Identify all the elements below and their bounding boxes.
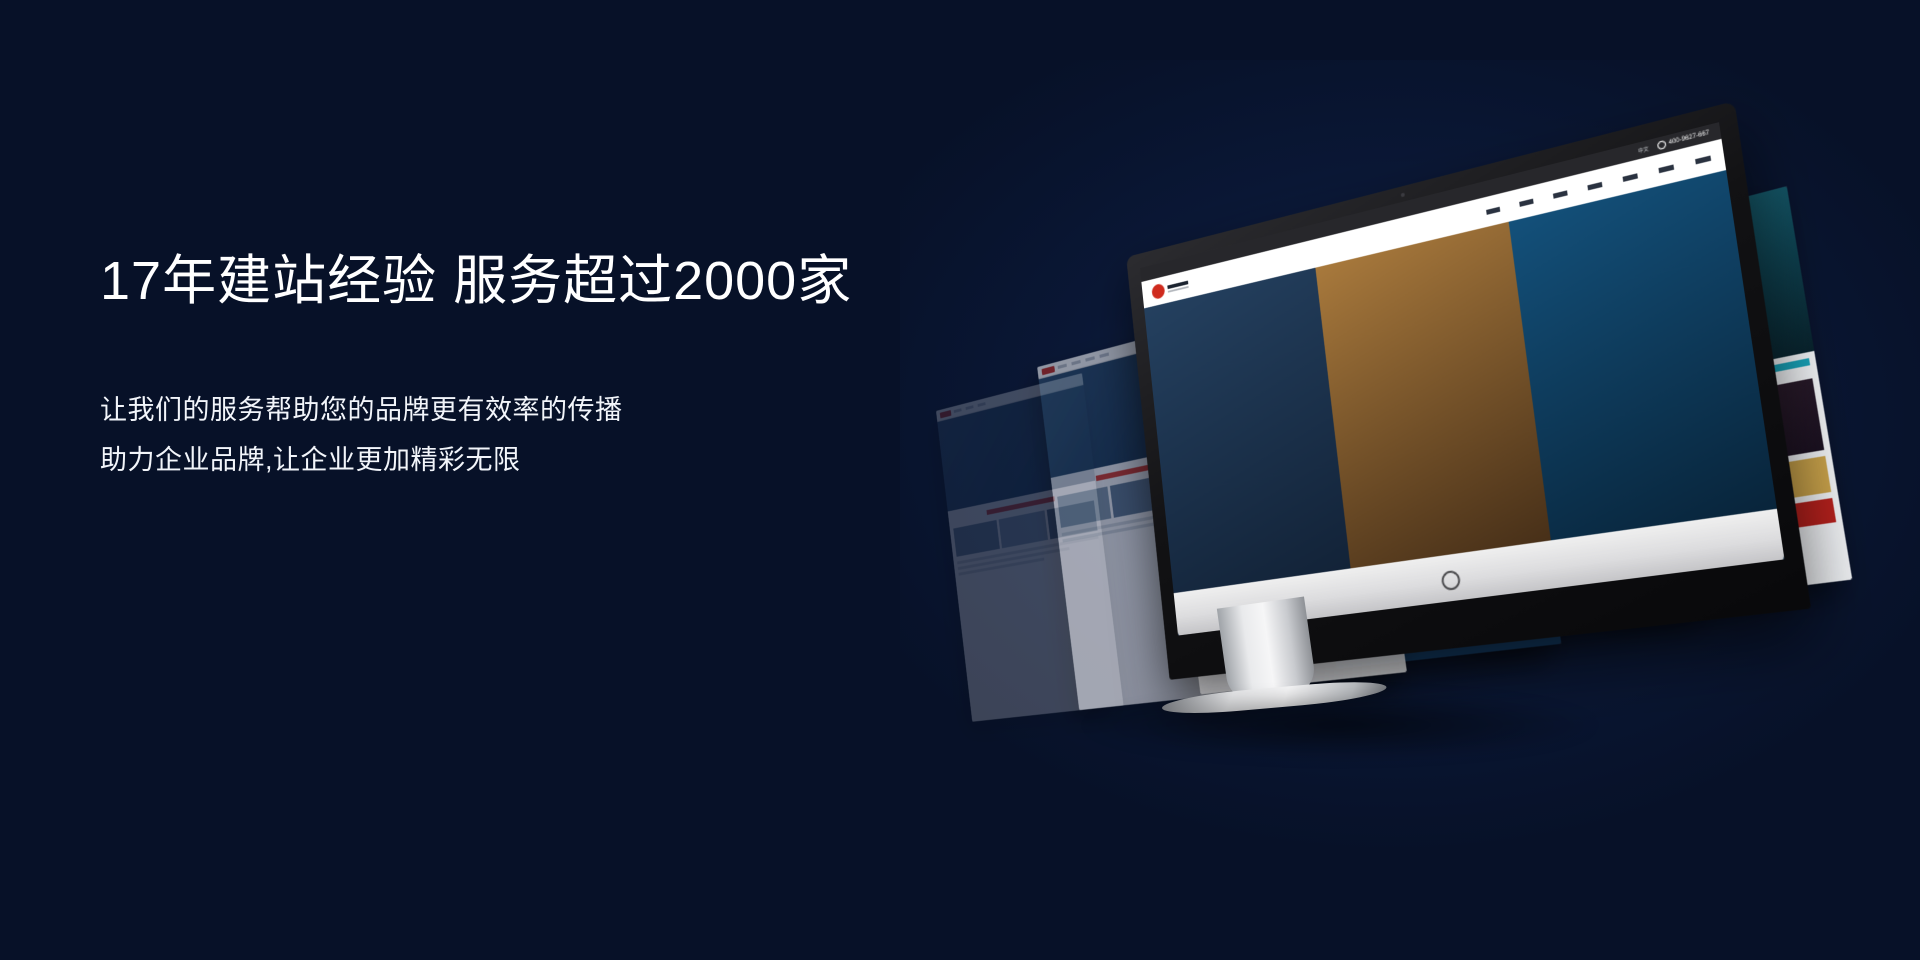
nav-item[interactable]: [1695, 155, 1711, 164]
subtitle-line-2: 助力企业品牌,让企业更加精彩无限: [100, 436, 1050, 486]
webcam-icon: [1401, 193, 1405, 198]
page-title: 17年建站经验 服务超过2000家: [100, 250, 1050, 314]
panel-logo-icon: [1041, 365, 1055, 375]
hero-banner: 17年建站经验 服务超过2000家 让我们的服务帮助您的品牌更有效率的传播 助力…: [0, 0, 1920, 960]
nav-item[interactable]: [1519, 198, 1533, 206]
nav-item[interactable]: [1486, 206, 1500, 214]
language-label[interactable]: 中文: [1637, 145, 1649, 155]
panel-logo-icon: [940, 410, 952, 418]
banner-copy: 17年建站经验 服务超过2000家 让我们的服务帮助您的品牌更有效率的传播 助力…: [100, 250, 1050, 486]
phone-icon: [1656, 140, 1666, 150]
device-shadow: [1080, 690, 1600, 760]
nav-item[interactable]: [1553, 190, 1568, 198]
subtitle-line-1: 让我们的服务帮助您的品牌更有效率的传播: [100, 386, 1050, 436]
apple-circle-icon: [1441, 570, 1462, 592]
banner-subtitle: 让我们的服务帮助您的品牌更有效率的传播 助力企业品牌,让企业更加精彩无限: [100, 386, 1050, 486]
site-logo[interactable]: [1151, 277, 1189, 300]
company-logo-mark-icon: [1151, 283, 1165, 300]
panel-body: [948, 481, 1124, 722]
site-logo-text: [1167, 281, 1188, 293]
nav-item[interactable]: [1622, 173, 1637, 182]
nav-item[interactable]: [1658, 164, 1674, 173]
